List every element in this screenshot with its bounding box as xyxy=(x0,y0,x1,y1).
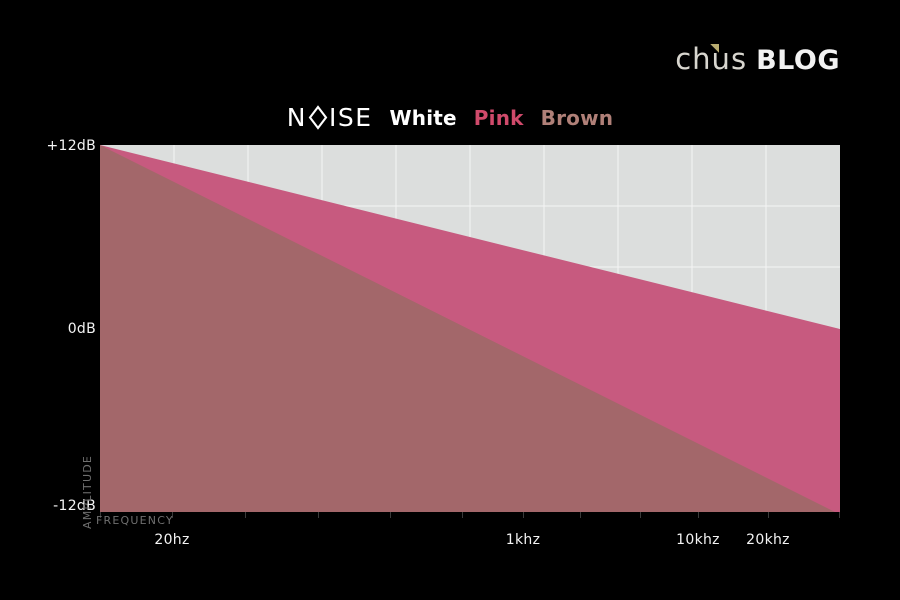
chart-title-legend-bar: N I S E White Pink Brown xyxy=(0,103,900,132)
y-axis-title: AMPLITUDE xyxy=(81,455,94,529)
x-axis-labels: 20hz 1khz 10khz 20khz xyxy=(0,532,900,558)
x-tick-mark xyxy=(768,512,769,518)
x-tick-mark xyxy=(640,512,641,518)
legend-item-brown[interactable]: Brown xyxy=(541,106,614,130)
site-logo[interactable]: chus BLOG xyxy=(675,42,840,76)
x-tick-mark xyxy=(839,512,840,518)
x-tick-mark xyxy=(390,512,391,518)
y-tick-label-plus12: +12dB xyxy=(32,138,96,154)
logo-wordmark: chus xyxy=(675,42,747,76)
x-axis-tick-marks xyxy=(100,512,840,519)
x-tick-mark xyxy=(698,512,699,518)
y-tick-label-zero: 0dB xyxy=(32,321,96,337)
chart-title-noise: N I S E xyxy=(287,103,373,132)
title-letter-e: E xyxy=(355,103,372,132)
logo-wordmark-text: chus xyxy=(675,42,747,76)
x-tick-mark xyxy=(462,512,463,518)
brown-noise-area xyxy=(100,145,840,512)
legend-item-white[interactable]: White xyxy=(390,106,457,130)
x-tick-label-20hz: 20hz xyxy=(154,532,189,548)
x-tick-label-1khz: 1khz xyxy=(506,532,540,548)
plot-area xyxy=(100,145,840,512)
legend-item-pink[interactable]: Pink xyxy=(474,106,524,130)
title-letter-s: S xyxy=(338,103,355,132)
x-tick-label-20khz: 20khz xyxy=(746,532,790,548)
title-letter-i: I xyxy=(329,103,338,132)
title-letter-n: N xyxy=(287,103,307,132)
x-axis-title: FREQUENCY xyxy=(96,514,174,527)
title-letter-o-diamond-icon xyxy=(308,105,328,130)
x-tick-mark xyxy=(245,512,246,518)
x-tick-mark xyxy=(318,512,319,518)
x-tick-mark xyxy=(523,512,524,518)
x-tick-label-10khz: 10khz xyxy=(676,532,720,548)
x-tick-mark xyxy=(580,512,581,518)
logo-blog-label: BLOG xyxy=(756,45,840,76)
chart-canvas: chus BLOG N I S E White Pink Brown xyxy=(0,0,900,600)
brown-noise-fill xyxy=(100,145,835,512)
